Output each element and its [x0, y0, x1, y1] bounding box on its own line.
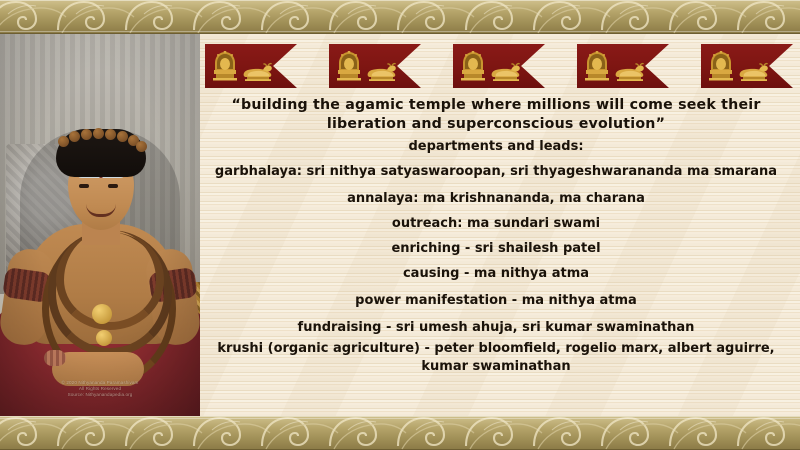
shiva-lingam-shrine-icon	[212, 51, 238, 81]
flag-emblem-group	[212, 51, 273, 81]
department-entry: outreach: ma sundari swami	[196, 215, 796, 233]
poster-canvas: © 2020 Nithyananda Paramashivam All Righ…	[0, 0, 800, 450]
nandi-bull-icon	[365, 59, 397, 81]
vision-quote: “building the agamic temple where millio…	[196, 96, 796, 134]
gold-pendant-lower	[96, 330, 112, 346]
department-entry: garbhalaya: sri nithya satyaswaroopan, s…	[196, 163, 796, 181]
shiva-lingam-shrine-icon	[708, 51, 734, 81]
temple-flag	[701, 44, 793, 88]
nandi-bull-icon	[241, 59, 273, 81]
flag-emblem-group	[336, 51, 397, 81]
department-entry: enriching - sri shailesh patel	[196, 240, 796, 258]
scrollwork-pattern-icon	[0, 416, 800, 450]
left-eye	[79, 184, 89, 188]
department-entry: causing - ma nithya atma	[196, 265, 796, 283]
border-hairline	[0, 418, 800, 419]
bead-crown	[56, 129, 146, 149]
department-entry: krushi (organic agriculture) - peter blo…	[196, 340, 796, 376]
temple-flag	[577, 44, 669, 88]
shiva-lingam-shrine-icon	[336, 51, 362, 81]
temple-flag	[329, 44, 421, 88]
flag-banner-row	[205, 44, 793, 88]
copyright-line-3: Source: Nithyanandapedia.org	[0, 392, 200, 398]
temple-flag	[453, 44, 545, 88]
nandi-bull-icon	[737, 59, 769, 81]
nandi-bull-icon	[613, 59, 645, 81]
department-entry: annalaya: ma krishnananda, ma charana	[196, 190, 796, 208]
flag-emblem-group	[460, 51, 521, 81]
nandi-bull-icon	[489, 59, 521, 81]
right-eye	[108, 184, 118, 188]
departments-heading: departments and leads:	[196, 138, 796, 156]
border-hairline	[0, 31, 800, 32]
copyright-watermark: © 2020 Nithyananda Paramashivam All Righ…	[0, 380, 200, 398]
bottom-ornamental-border	[0, 416, 800, 450]
flag-emblem-group	[708, 51, 769, 81]
department-entry: fundraising - sri umesh ahuja, sri kumar…	[196, 319, 796, 337]
shiva-lingam-shrine-icon	[460, 51, 486, 81]
gold-pendant-upper	[92, 304, 112, 324]
wrist-beads	[44, 350, 66, 366]
temple-flag	[205, 44, 297, 88]
shiva-lingam-shrine-icon	[584, 51, 610, 81]
department-entry: power manifestation - ma nithya atma	[196, 292, 796, 310]
poster-text-block: “building the agamic temple where millio…	[196, 96, 796, 383]
flag-emblem-group	[584, 51, 645, 81]
scrollwork-pattern-icon	[0, 0, 800, 34]
guru-portrait-image: © 2020 Nithyananda Paramashivam All Righ…	[0, 34, 200, 416]
top-ornamental-border	[0, 0, 800, 34]
